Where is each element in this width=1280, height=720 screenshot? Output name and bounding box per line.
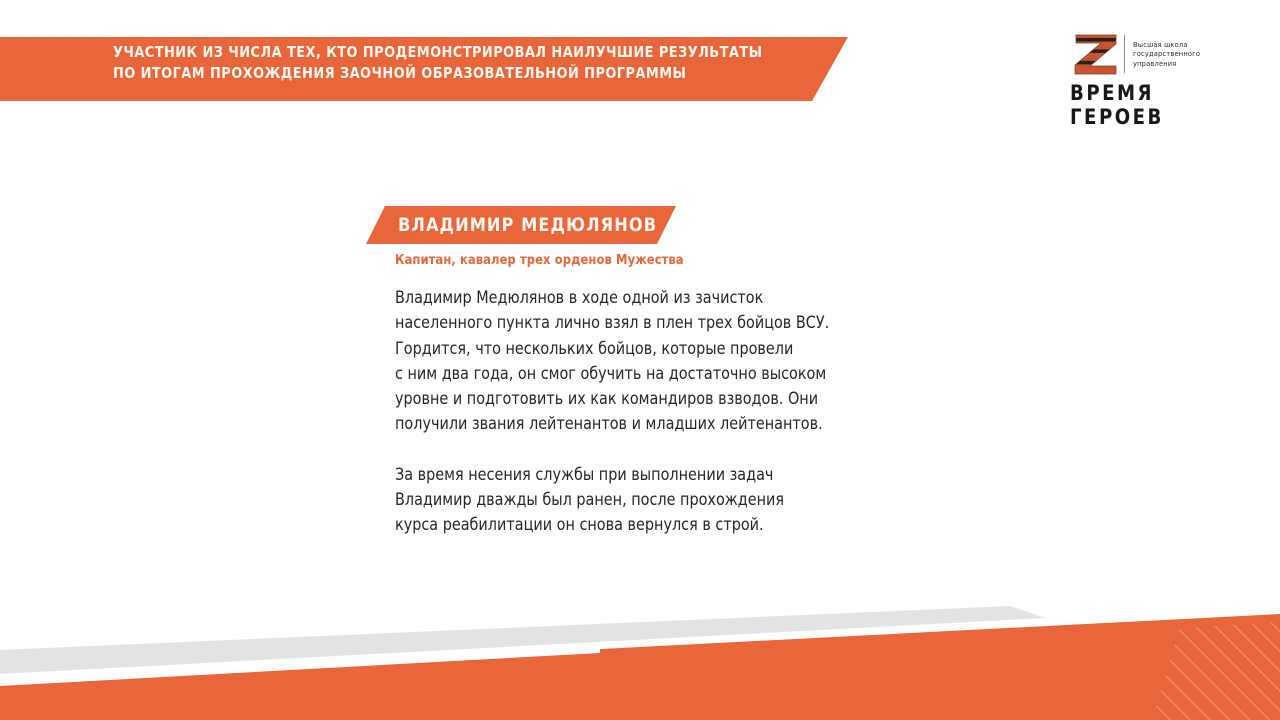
logo-school-name: Высшая школа государственного управления bbox=[1133, 40, 1200, 69]
logo-top-row: Высшая школа государственного управления bbox=[1070, 30, 1222, 78]
paragraph: За время несения службы при выполнении з… bbox=[395, 462, 916, 538]
bottom-decoration bbox=[0, 600, 1280, 720]
profile-role: Капитан, кавалер трех орденов Мужества bbox=[395, 252, 684, 268]
profile-description: Владимир Медюлянов в ходе одной из зачис… bbox=[395, 285, 935, 538]
z-ribbon-icon bbox=[1070, 32, 1122, 76]
slide-canvas: УЧАСТНИК ИЗ ЧИСЛА ТЕХ, КТО ПРОДЕМОНСТРИР… bbox=[0, 0, 1280, 720]
header-title: УЧАСТНИК ИЗ ЧИСЛА ТЕХ, КТО ПРОДЕМОНСТРИР… bbox=[113, 42, 764, 84]
logo-block: Высшая школа государственного управления… bbox=[1070, 30, 1222, 108]
logo-divider bbox=[1124, 35, 1125, 73]
profile-name: ВЛАДИМИР МЕДЮЛЯНОВ bbox=[398, 214, 657, 236]
paragraph: Владимир Медюлянов в ходе одной из зачис… bbox=[395, 285, 916, 437]
logo-wordmark: ВРЕМЯ ГЕРОЕВ bbox=[1070, 81, 1216, 129]
